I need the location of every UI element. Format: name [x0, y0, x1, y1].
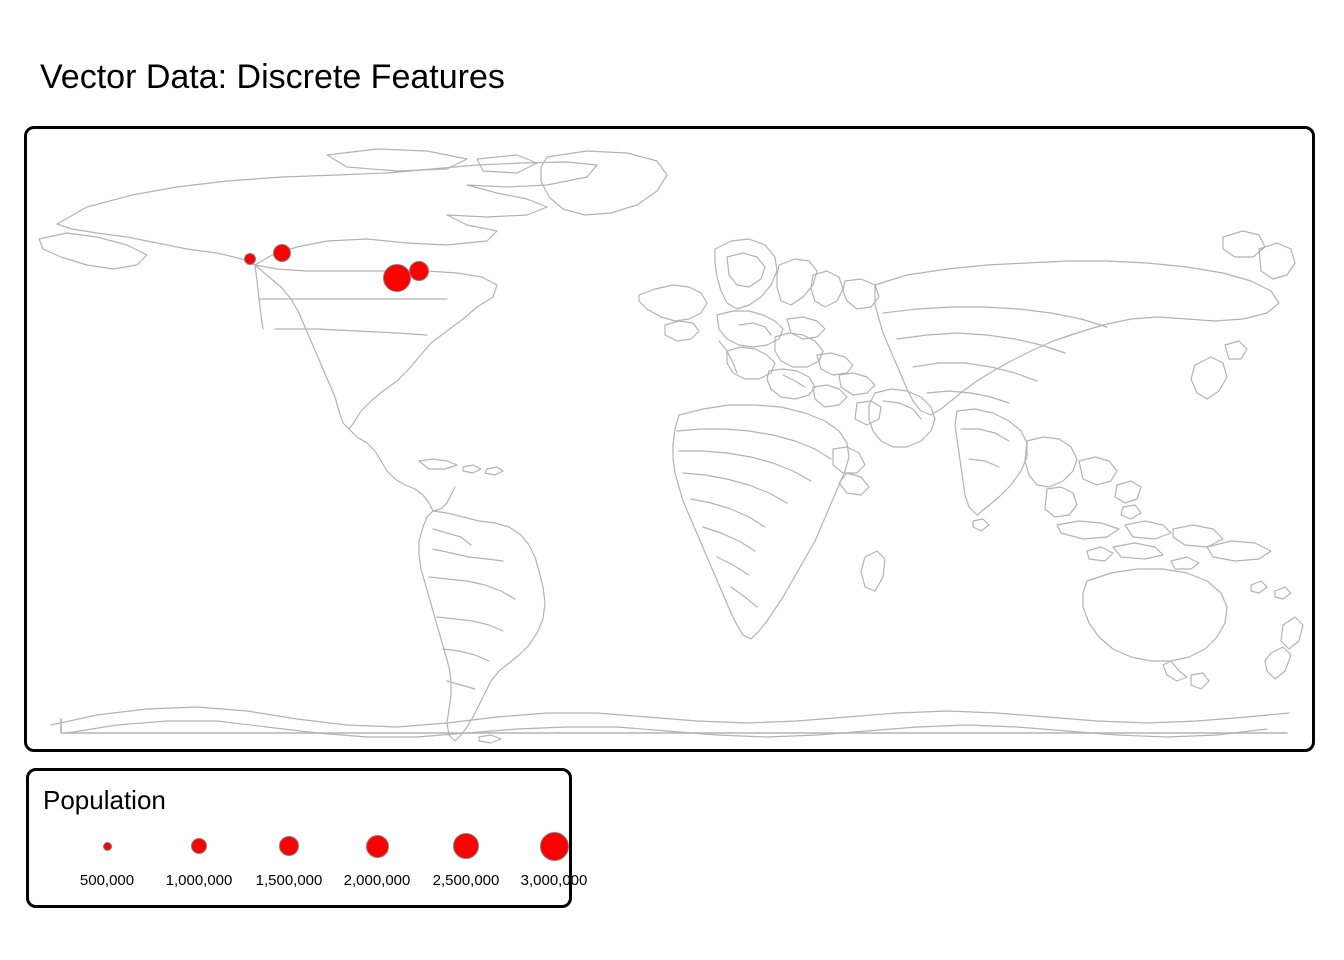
legend-label: 3,000,000 [521, 871, 588, 891]
legend-symbol [279, 836, 299, 856]
legend-label: 1,500,000 [256, 871, 323, 891]
legend-symbol [366, 835, 389, 858]
map-data-point[interactable] [383, 264, 411, 292]
legend-symbol [453, 833, 479, 859]
map-data-point[interactable] [409, 261, 429, 281]
legend-label: 1,000,000 [166, 871, 233, 891]
map-data-point[interactable] [273, 244, 291, 262]
world-map-svg [27, 129, 1312, 749]
legend-symbols [29, 823, 569, 869]
legend-panel[interactable]: Population 500,0001,000,0001,500,0002,00… [26, 768, 572, 908]
map-panel[interactable] [24, 126, 1315, 752]
page-title: Vector Data: Discrete Features [40, 57, 505, 97]
legend-symbol [191, 838, 207, 854]
legend-label: 2,500,000 [433, 871, 500, 891]
legend-label: 2,000,000 [344, 871, 411, 891]
legend-symbol [103, 842, 112, 851]
map-data-point[interactable] [244, 253, 256, 265]
map-land-outlines [39, 149, 1303, 743]
legend-title: Population [43, 785, 166, 815]
legend-label: 500,000 [80, 871, 134, 891]
legend-labels: 500,0001,000,0001,500,0002,000,0002,500,… [29, 871, 569, 895]
legend-symbol [540, 832, 569, 861]
